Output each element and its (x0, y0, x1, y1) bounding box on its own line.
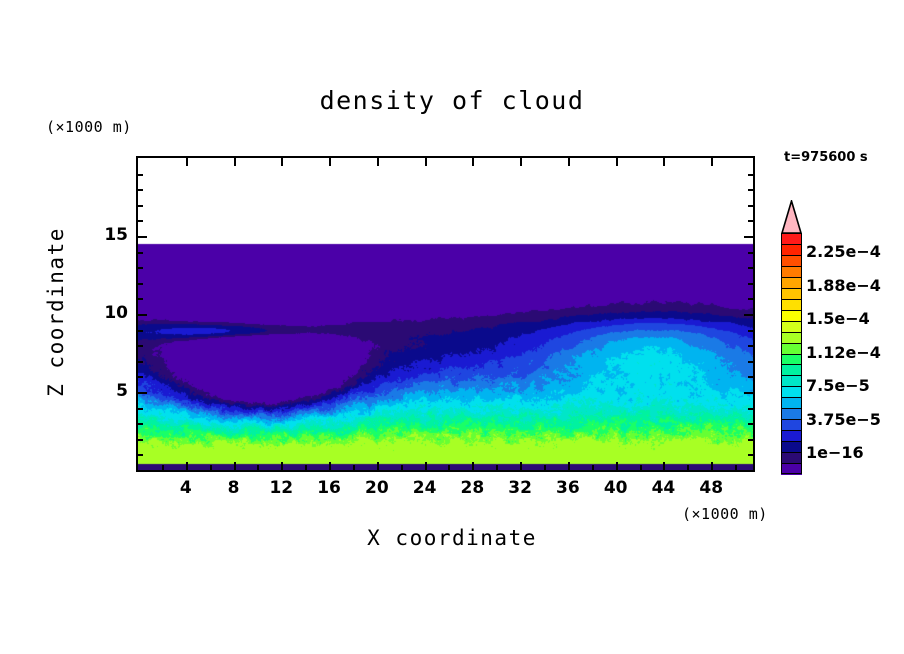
x-minor-tick (496, 465, 498, 470)
x-tick-label: 32 (500, 478, 540, 498)
figure-canvas: density of cloud (×1000 m) (×1000 m) X c… (0, 0, 904, 654)
x-tick-mark (329, 462, 331, 471)
y-axis-label: Z coordinate (44, 212, 68, 412)
x-tick-mark (281, 157, 283, 166)
y-minor-tick (748, 220, 754, 222)
y-minor-tick (137, 439, 143, 441)
x-tick-mark (520, 462, 522, 471)
heatmap-surface (138, 158, 753, 470)
y-minor-tick (137, 298, 143, 300)
colorbar-tick-label: 3.75e−5 (806, 410, 881, 429)
x-minor-tick (353, 465, 355, 470)
x-tick-mark (329, 157, 331, 166)
y-minor-tick (137, 252, 143, 254)
x-tick-mark (616, 462, 618, 471)
x-tick-label: 36 (548, 478, 588, 498)
y-minor-tick (137, 220, 143, 222)
x-tick-label: 28 (452, 478, 492, 498)
page-title: density of cloud (0, 86, 904, 115)
y-minor-tick (137, 454, 143, 456)
y-tick-label: 10 (88, 303, 128, 323)
x-minor-tick (401, 465, 403, 470)
y-minor-tick (748, 205, 754, 207)
x-minor-tick (687, 465, 689, 470)
x-minor-tick (305, 465, 307, 470)
y-minor-tick (748, 454, 754, 456)
y-tick-label: 5 (88, 381, 128, 401)
x-minor-tick (448, 465, 450, 470)
x-tick-mark (520, 157, 522, 166)
x-axis-units: (×1000 m) (682, 505, 768, 523)
timestamp-annotation: t=975600 s (784, 150, 868, 165)
y-minor-tick (748, 283, 754, 285)
x-minor-tick (592, 465, 594, 470)
x-tick-mark (281, 462, 283, 471)
y-minor-tick (137, 330, 143, 332)
y-tick-mark (744, 236, 754, 238)
x-tick-mark (472, 462, 474, 471)
x-tick-mark (711, 462, 713, 471)
x-tick-mark (234, 462, 236, 471)
y-tick-label: 15 (88, 225, 128, 245)
x-tick-label: 48 (691, 478, 731, 498)
y-minor-tick (748, 439, 754, 441)
x-minor-tick (257, 465, 259, 470)
y-minor-tick (137, 423, 143, 425)
colorbar-tick-label: 7.5e−5 (806, 376, 870, 395)
y-minor-tick (137, 376, 143, 378)
x-tick-label: 40 (596, 478, 636, 498)
y-minor-tick (137, 283, 143, 285)
x-tick-label: 20 (357, 478, 397, 498)
y-minor-tick (748, 252, 754, 254)
y-axis-units: (×1000 m) (46, 118, 132, 136)
x-tick-mark (663, 462, 665, 471)
y-tick-mark (744, 314, 754, 316)
x-tick-mark (568, 462, 570, 471)
x-minor-tick (162, 465, 164, 470)
x-tick-mark (186, 462, 188, 471)
x-tick-label: 16 (309, 478, 349, 498)
colorbar-overflow-arrow (781, 200, 802, 234)
x-tick-mark (377, 462, 379, 471)
x-tick-mark (425, 157, 427, 166)
y-minor-tick (748, 408, 754, 410)
y-minor-tick (748, 345, 754, 347)
x-tick-mark (568, 157, 570, 166)
y-minor-tick (748, 330, 754, 332)
x-tick-mark (186, 157, 188, 166)
x-minor-tick (735, 465, 737, 470)
y-minor-tick (137, 189, 143, 191)
y-minor-tick (748, 298, 754, 300)
colorbar-tick-label: 1e−16 (806, 443, 864, 462)
y-minor-tick (748, 361, 754, 363)
x-tick-label: 44 (643, 478, 683, 498)
y-minor-tick (137, 361, 143, 363)
y-minor-tick (137, 345, 143, 347)
y-minor-tick (137, 408, 143, 410)
x-minor-tick (640, 465, 642, 470)
x-tick-mark (377, 157, 379, 166)
y-tick-mark (137, 314, 147, 316)
y-minor-tick (137, 205, 143, 207)
colorbar-tick-label: 1.88e−4 (806, 276, 881, 295)
y-minor-tick (748, 189, 754, 191)
colorbar-tick-label: 2.25e−4 (806, 242, 881, 261)
cloud-density-field (138, 158, 753, 470)
y-minor-tick (748, 267, 754, 269)
colorbar-tick-label: 1.12e−4 (806, 343, 881, 362)
x-axis-label: X coordinate (0, 526, 904, 550)
x-tick-label: 24 (405, 478, 445, 498)
y-tick-mark (744, 392, 754, 394)
colorbar: 2.25e−41.88e−41.5e−41.12e−47.5e−53.75e−5… (781, 233, 802, 474)
y-tick-mark (137, 392, 147, 394)
x-tick-mark (663, 157, 665, 166)
x-tick-mark (234, 157, 236, 166)
y-minor-tick (748, 423, 754, 425)
x-minor-tick (210, 465, 212, 470)
y-minor-tick (137, 267, 143, 269)
x-tick-label: 4 (166, 478, 206, 498)
y-tick-mark (137, 236, 147, 238)
y-minor-tick (748, 174, 754, 176)
y-minor-tick (137, 174, 143, 176)
x-tick-mark (616, 157, 618, 166)
y-minor-tick (748, 376, 754, 378)
x-tick-label: 12 (261, 478, 301, 498)
colorbar-tick-label: 1.5e−4 (806, 309, 870, 328)
colorbar-outline (781, 233, 802, 474)
plot-frame (136, 156, 755, 472)
x-tick-mark (425, 462, 427, 471)
x-tick-label: 8 (214, 478, 254, 498)
x-tick-mark (711, 157, 713, 166)
x-minor-tick (544, 465, 546, 470)
x-tick-mark (472, 157, 474, 166)
